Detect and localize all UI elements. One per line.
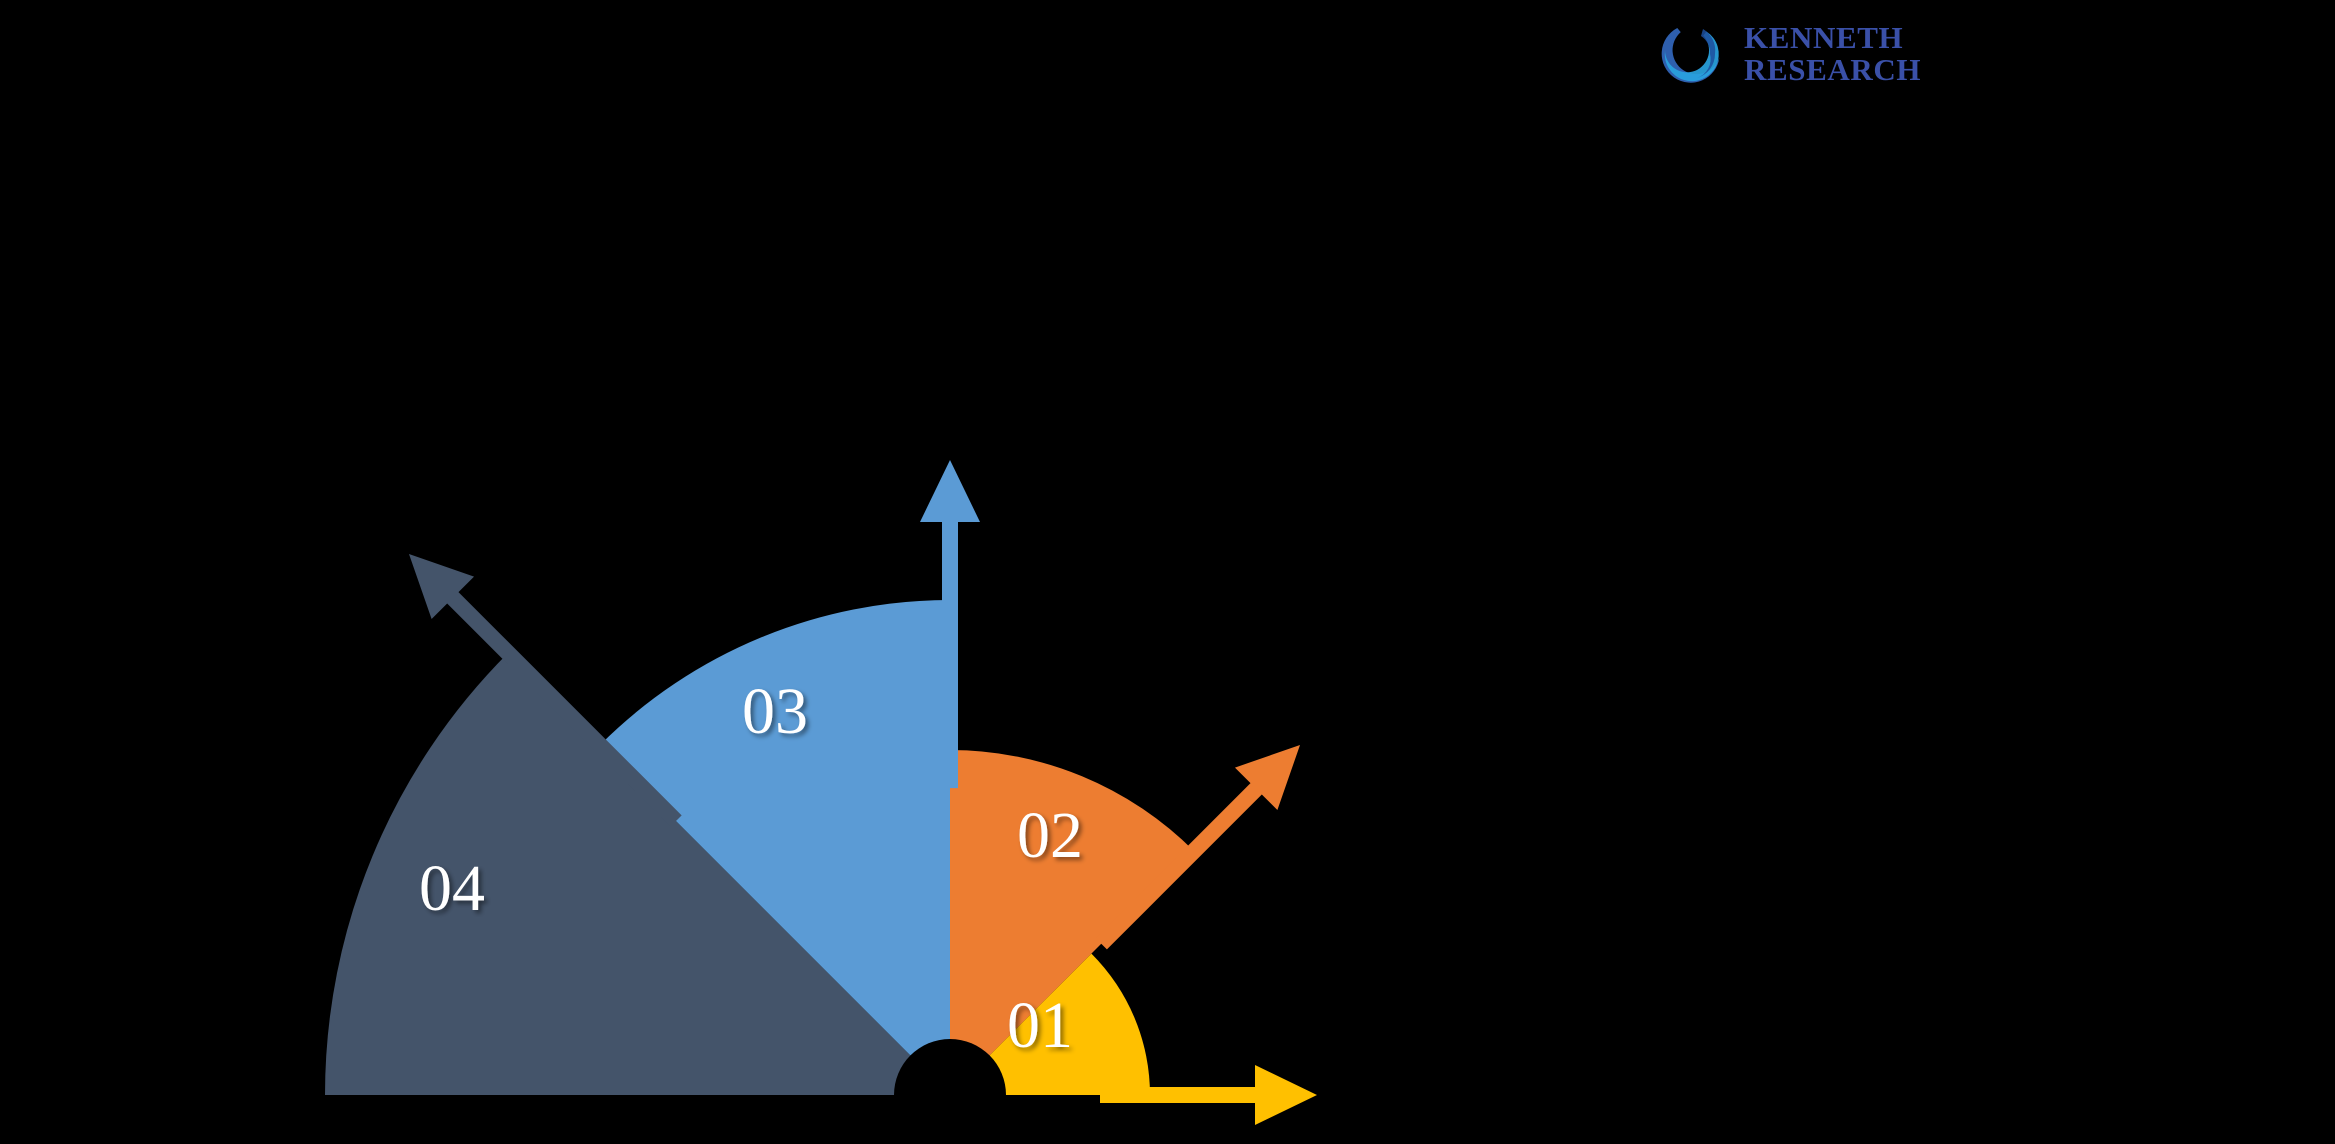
circular-swirl-icon [1650,13,1732,95]
radial-fan-diagram: 01020304 [0,0,2335,1144]
brand-logo[interactable]: KENNETH RESEARCH [1650,6,1970,102]
diagram-canvas: 01020304 KENNETH RESEARCH [0,0,2335,1144]
brand-name-line1: KENNETH [1744,22,1921,54]
brand-name-line2: RESEARCH [1744,54,1921,86]
brand-wordmark: KENNETH RESEARCH [1744,22,1921,85]
sector-group [325,600,1194,1095]
